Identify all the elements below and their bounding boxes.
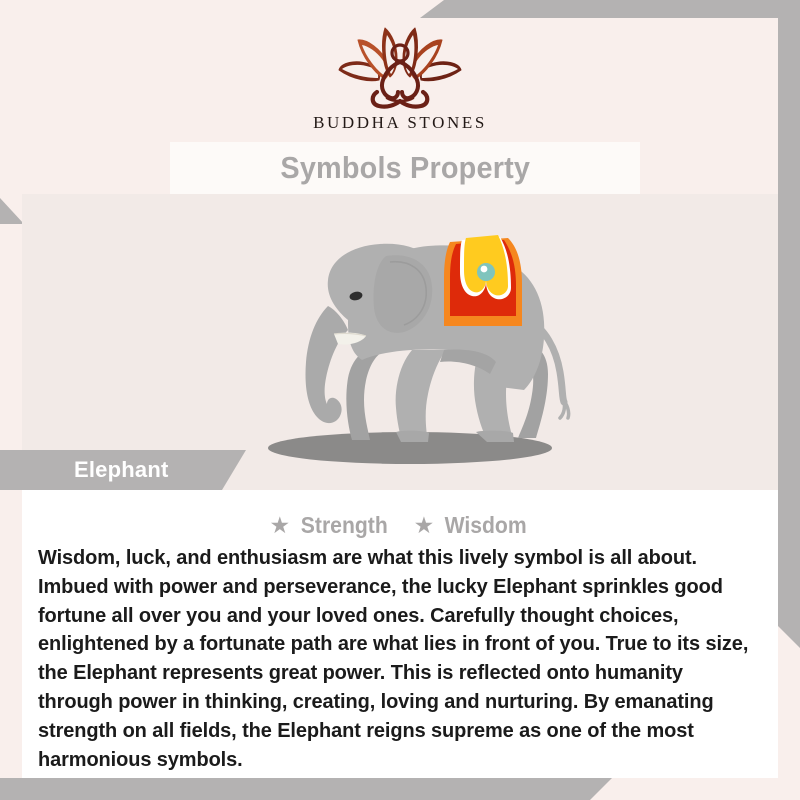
elephant-illustration [230,202,590,478]
description-panel: ★ Strength ★ Wisdom Wisdom, luck, and en… [22,490,778,778]
illustration-panel [22,194,778,490]
page-title: Symbols Property [280,150,530,186]
decor-bottom-left-band [0,778,612,800]
attribute-strength: ★ Strength [269,512,391,539]
symbols-property-card: BUDDHA STONES Symbols Property [0,0,800,800]
attributes-row: ★ Strength ★ Wisdom [22,512,778,539]
brand-name: BUDDHA STONES [313,113,487,133]
attribute-label-wisdom: Wisdom [445,512,527,539]
decor-left-triangle [0,198,24,224]
lotus-meditation-icon [325,22,475,110]
title-banner: Symbols Property [170,142,640,194]
symbol-name-tag: Elephant [0,450,246,490]
attribute-wisdom: ★ Wisdom [414,512,531,539]
description-text: Wisdom, luck, and enthusiasm are what th… [38,544,755,775]
brand-header: BUDDHA STONES [0,0,800,140]
star-icon: ★ [414,514,435,537]
symbol-name: Elephant [74,457,169,483]
star-icon: ★ [269,514,290,537]
brand-logo: BUDDHA STONES [0,22,800,133]
attribute-label-strength: Strength [301,512,388,539]
